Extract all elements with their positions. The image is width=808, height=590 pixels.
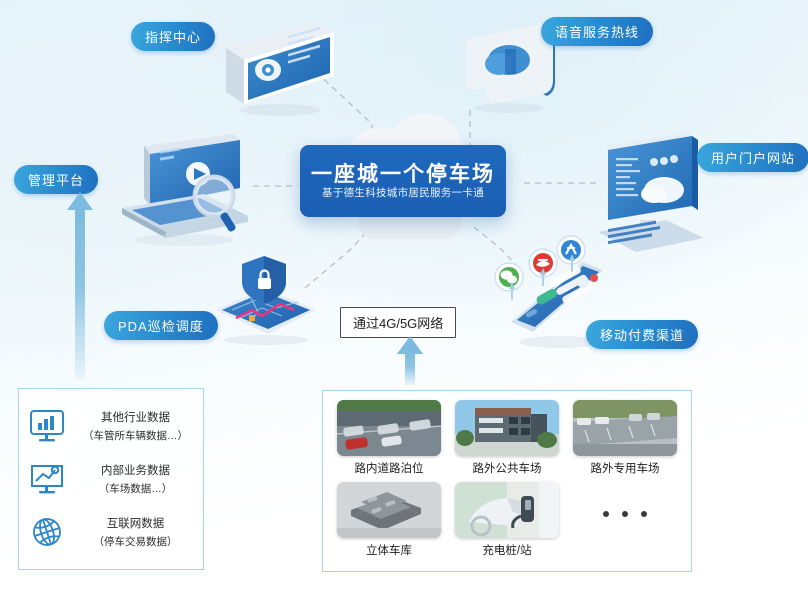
parking-type-cell[interactable]: 路外公共车场: [451, 400, 563, 480]
parking-type-caption: 路外公共车场: [473, 460, 542, 476]
alipay-app-icon: [528, 248, 558, 278]
network-label-box: 通过4G/5G网络: [340, 307, 456, 338]
parking-type-cell[interactable]: 立体车库: [333, 482, 445, 562]
hero-subtitle: 基于德生科技城市居民服务一卡通: [322, 188, 484, 199]
data-source-title: 内部业务数据: [101, 462, 170, 478]
more-parking-types: [569, 482, 681, 562]
diagram-canvas: 一座城一个停车场 基于德生科技城市居民服务一卡通 指挥中心 语音服务热线 管理平…: [0, 0, 808, 590]
ev-charging-station-photo: [455, 482, 559, 538]
data-sources-panel: 其他行业数据 （车管所车辆数据…） 内部业务数据 （车场数据…）: [18, 388, 204, 570]
dot: [641, 511, 647, 517]
parking-types-panel: 路内道路泊位: [322, 390, 692, 572]
label-command-center[interactable]: 指挥中心: [131, 22, 215, 51]
dot: [603, 511, 609, 517]
parking-type-cell[interactable]: 路外专用车场: [569, 400, 681, 480]
shield-lock-map-device: [206, 252, 326, 346]
label-voice-hotline[interactable]: 语音服务热线: [541, 17, 653, 46]
data-source-title: 互联网数据: [107, 515, 165, 531]
ellipsis-indicator: [603, 482, 647, 562]
parking-type-cell[interactable]: 路内道路泊位: [333, 400, 445, 480]
laptop-magnifier-device: [88, 132, 258, 252]
parking-type-caption: 立体车库: [366, 542, 412, 558]
dot: [622, 511, 628, 517]
street-side-parking-photo: [337, 400, 441, 456]
wechat-pay-app-icon: [494, 262, 524, 292]
label-mobile-payment[interactable]: 移动付费渠道: [586, 320, 698, 349]
parking-type-caption: 路外专用车场: [591, 460, 660, 476]
parking-type-caption: 充电桩/站: [482, 542, 531, 558]
hero-title: 一座城一个停车场: [311, 164, 495, 185]
label-management-platform[interactable]: 管理平台: [14, 165, 98, 194]
data-source-row: 内部业务数据 （车场数据…）: [27, 461, 195, 497]
data-source-title: 其他行业数据: [101, 409, 170, 425]
label-pda-patrol[interactable]: PDA巡检调度: [104, 311, 218, 340]
hero-card: 一座城一个停车场 基于德生科技城市居民服务一卡通: [300, 145, 506, 217]
data-source-row: 互联网数据 （停车交易数据）: [27, 514, 195, 550]
globe-network-icon: [27, 514, 67, 550]
multi-level-garage-photo: [337, 482, 441, 538]
transit-card-app-icon: [556, 235, 586, 265]
monitor-bar-chart-icon: [27, 408, 67, 444]
monitor-line-chart-icon: [27, 461, 67, 497]
data-source-subtitle: （车场数据…）: [99, 481, 173, 496]
data-source-row: 其他行业数据 （车管所车辆数据…）: [27, 408, 195, 444]
parking-type-caption: 路内道路泊位: [355, 460, 424, 476]
data-source-subtitle: （停车交易数据）: [94, 534, 178, 549]
parking-type-cell[interactable]: 充电桩/站: [451, 482, 563, 562]
label-user-portal[interactable]: 用户门户网站: [697, 143, 808, 172]
public-parking-building-photo: [455, 400, 559, 456]
network-up-arrow: [392, 336, 428, 386]
data-source-subtitle: （车管所车辆数据…）: [83, 428, 188, 443]
dedicated-parking-lot-photo: [573, 400, 677, 456]
data-flow-up-arrow: [62, 192, 98, 380]
gear-monitor-device: [218, 18, 338, 118]
